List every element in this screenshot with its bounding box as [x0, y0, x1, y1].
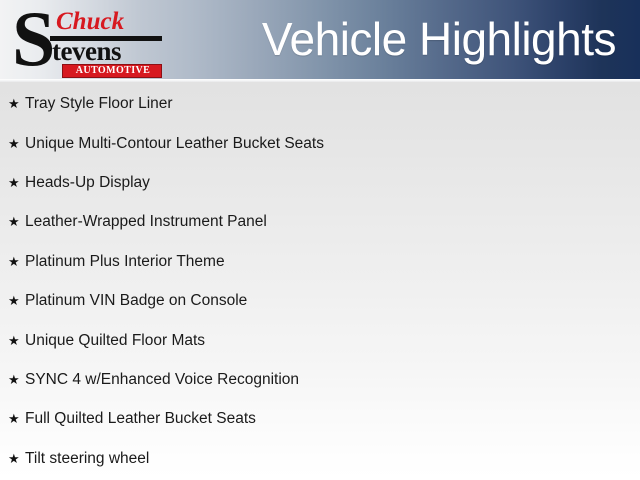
star-icon: ★ — [8, 137, 25, 150]
list-item-label: Full Quilted Leather Bucket Seats — [25, 409, 256, 428]
list-item: ★ Tray Style Floor Liner — [0, 84, 640, 123]
list-item: ★ SYNC 4 w/Enhanced Voice Recognition — [0, 360, 640, 399]
list-item: ★ Tilt steering wheel — [0, 439, 640, 478]
star-icon: ★ — [8, 412, 25, 425]
highlights-list: ★ Tray Style Floor Liner ★ Unique Multi-… — [0, 84, 640, 478]
list-item: ★ Full Quilted Leather Bucket Seats — [0, 399, 640, 438]
dealer-logo[interactable]: S Chuck tevens AUTOMOTIVE — [10, 6, 162, 76]
star-icon: ★ — [8, 255, 25, 268]
logo-first-name: Chuck — [56, 9, 124, 34]
vehicle-highlights-page: S Chuck tevens AUTOMOTIVE Vehicle Highli… — [0, 0, 640, 480]
list-item-label: SYNC 4 w/Enhanced Voice Recognition — [25, 370, 299, 389]
star-icon: ★ — [8, 294, 25, 307]
list-item-label: Tray Style Floor Liner — [25, 94, 173, 113]
list-item: ★ Platinum Plus Interior Theme — [0, 242, 640, 281]
page-header: S Chuck tevens AUTOMOTIVE Vehicle Highli… — [0, 0, 640, 79]
page-title: Vehicle Highlights — [262, 4, 616, 74]
star-icon: ★ — [8, 373, 25, 386]
list-item-label: Leather-Wrapped Instrument Panel — [25, 212, 267, 231]
header-separator — [0, 79, 640, 82]
list-item-label: Platinum VIN Badge on Console — [25, 291, 247, 310]
logo-tagline-text: AUTOMOTIVE — [63, 65, 162, 77]
list-item: ★ Platinum VIN Badge on Console — [0, 281, 640, 320]
list-item: ★ Unique Multi-Contour Leather Bucket Se… — [0, 123, 640, 162]
logo-tagline-banner: AUTOMOTIVE — [62, 64, 162, 78]
logo-initial-s: S — [12, 0, 53, 78]
list-item: ★ Leather-Wrapped Instrument Panel — [0, 202, 640, 241]
list-item-label: Heads-Up Display — [25, 173, 150, 192]
star-icon: ★ — [8, 334, 25, 347]
star-icon: ★ — [8, 176, 25, 189]
list-item: ★ Heads-Up Display — [0, 163, 640, 202]
list-item-label: Platinum Plus Interior Theme — [25, 252, 225, 271]
star-icon: ★ — [8, 452, 25, 465]
list-item-label: Unique Multi-Contour Leather Bucket Seat… — [25, 134, 324, 153]
list-item: ★ Unique Quilted Floor Mats — [0, 320, 640, 359]
star-icon: ★ — [8, 215, 25, 228]
list-item-label: Tilt steering wheel — [25, 449, 149, 468]
list-item-label: Unique Quilted Floor Mats — [25, 331, 205, 350]
star-icon: ★ — [8, 97, 25, 110]
logo-last-name: tevens — [52, 38, 121, 65]
